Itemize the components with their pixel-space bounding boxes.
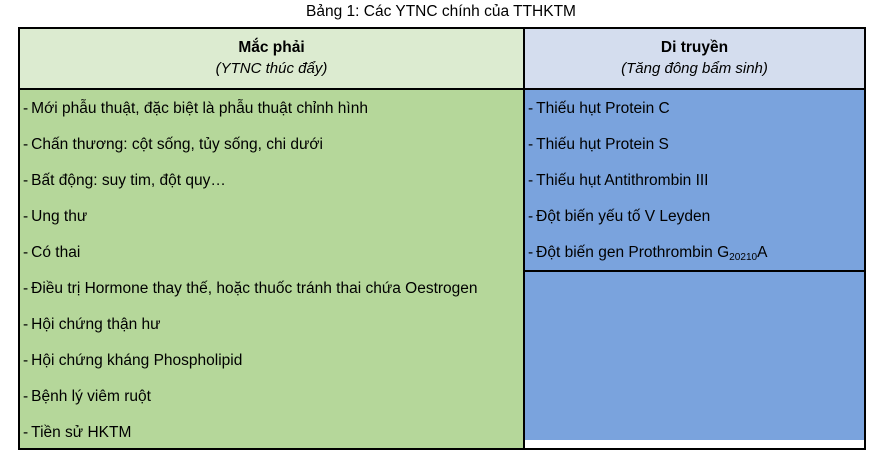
table-body-row: -Mới phẫu thuật, đặc biệt là phẫu thuật … bbox=[20, 90, 864, 448]
list-item: -Hội chứng kháng Phospholipid bbox=[23, 351, 515, 370]
risk-factor-table: Mắc phải (YTNC thúc đẩy) Di truyền (Tăng… bbox=[18, 27, 866, 450]
bullet-dash: - bbox=[23, 280, 28, 297]
list-item: -Bất động: suy tim, đột quy… bbox=[23, 171, 515, 190]
list-item-label: Đột biến yếu tố V Leyden bbox=[536, 208, 710, 225]
list-item: -Tiền sử HKTM bbox=[23, 423, 515, 442]
list-item: -Ung thư bbox=[23, 207, 515, 226]
bullet-dash: - bbox=[23, 208, 28, 225]
header-title-acquired: Mắc phải bbox=[26, 37, 517, 58]
list-item-label: Chấn thương: cột sống, tủy sống, chi dướ… bbox=[31, 136, 323, 153]
list-item: -Mới phẫu thuật, đặc biệt là phẫu thuật … bbox=[23, 99, 515, 118]
table-header-row: Mắc phải (YTNC thúc đẩy) Di truyền (Tăng… bbox=[20, 29, 864, 90]
slide-page: Bảng 1: Các YTNC chính của TTHKTM Mắc ph… bbox=[0, 0, 882, 446]
bullet-dash: - bbox=[23, 172, 28, 189]
list-item-label: Hội chứng thận hư bbox=[31, 316, 160, 333]
header-subtitle-acquired: (YTNC thúc đẩy) bbox=[26, 58, 517, 79]
list-item-label: Bất động: suy tim, đột quy… bbox=[31, 172, 226, 189]
list-item-label: Thiếu hụt Antithrombin III bbox=[536, 172, 708, 189]
bullet-dash: - bbox=[23, 100, 28, 117]
list-item-label: Ung thư bbox=[31, 208, 87, 225]
bullet-dash: - bbox=[23, 244, 28, 261]
list-item: -Thiếu hụt Protein C bbox=[528, 99, 856, 118]
list-item: -Có thai bbox=[23, 243, 515, 262]
header-title-inherited: Di truyền bbox=[531, 37, 858, 58]
list-item: -Thiếu hụt Antithrombin III bbox=[528, 171, 856, 190]
list-item: -Đột biến yếu tố V Leyden bbox=[528, 207, 856, 226]
list-item-label: Có thai bbox=[31, 244, 80, 261]
body-cell-inherited: -Thiếu hụt Protein C-Thiếu hụt Protein S… bbox=[525, 90, 864, 448]
subscript-value: 20210 bbox=[729, 252, 757, 263]
bullet-dash: - bbox=[528, 244, 533, 261]
acquired-risk-list: -Mới phẫu thuật, đặc biệt là phẫu thuật … bbox=[20, 90, 523, 448]
list-item: -Điều trị Hormone thay thế, hoặc thuốc t… bbox=[23, 279, 515, 298]
inherited-risk-list: -Thiếu hụt Protein C-Thiếu hụt Protein S… bbox=[525, 90, 864, 270]
bullet-dash: - bbox=[23, 424, 28, 441]
list-item-label: Thiếu hụt Protein S bbox=[536, 136, 669, 153]
bullet-dash: - bbox=[23, 316, 28, 333]
list-item: -Hội chứng thận hư bbox=[23, 315, 515, 334]
bullet-dash: - bbox=[23, 352, 28, 369]
list-item: -Chấn thương: cột sống, tủy sống, chi dư… bbox=[23, 135, 515, 154]
table-caption: Bảng 1: Các YTNC chính của TTHKTM bbox=[0, 2, 882, 22]
list-item: -Đột biến gen Prothrombin G20210A bbox=[528, 243, 856, 264]
list-item-label: Tiền sử HKTM bbox=[31, 424, 131, 441]
bullet-dash: - bbox=[528, 172, 533, 189]
bullet-dash: - bbox=[528, 136, 533, 153]
header-cell-inherited: Di truyền (Tăng đông bẩm sinh) bbox=[525, 29, 864, 88]
bullet-dash: - bbox=[23, 136, 28, 153]
list-item-label: Hội chứng kháng Phospholipid bbox=[31, 352, 242, 369]
list-item: -Bệnh lý viêm ruột bbox=[23, 387, 515, 406]
list-item: -Thiếu hụt Protein S bbox=[528, 135, 856, 154]
list-item-label: Điều trị Hormone thay thế, hoặc thuốc tr… bbox=[31, 280, 477, 297]
body-cell-acquired: -Mới phẫu thuật, đặc biệt là phẫu thuật … bbox=[20, 90, 525, 448]
bullet-dash: - bbox=[23, 388, 28, 405]
header-subtitle-inherited: (Tăng đông bẩm sinh) bbox=[531, 58, 858, 79]
header-cell-acquired: Mắc phải (YTNC thúc đẩy) bbox=[20, 29, 525, 88]
bullet-dash: - bbox=[528, 208, 533, 225]
inherited-list-section: -Thiếu hụt Protein C-Thiếu hụt Protein S… bbox=[525, 90, 864, 272]
list-item-label: Đột biến gen Prothrombin G20210A bbox=[536, 244, 767, 261]
bullet-dash: - bbox=[528, 100, 533, 117]
list-item-label: Thiếu hụt Protein C bbox=[536, 100, 670, 117]
inherited-empty-section bbox=[525, 272, 864, 440]
list-item-label: Bệnh lý viêm ruột bbox=[31, 388, 151, 405]
list-item-label: Mới phẫu thuật, đặc biệt là phẫu thuật c… bbox=[31, 100, 368, 117]
